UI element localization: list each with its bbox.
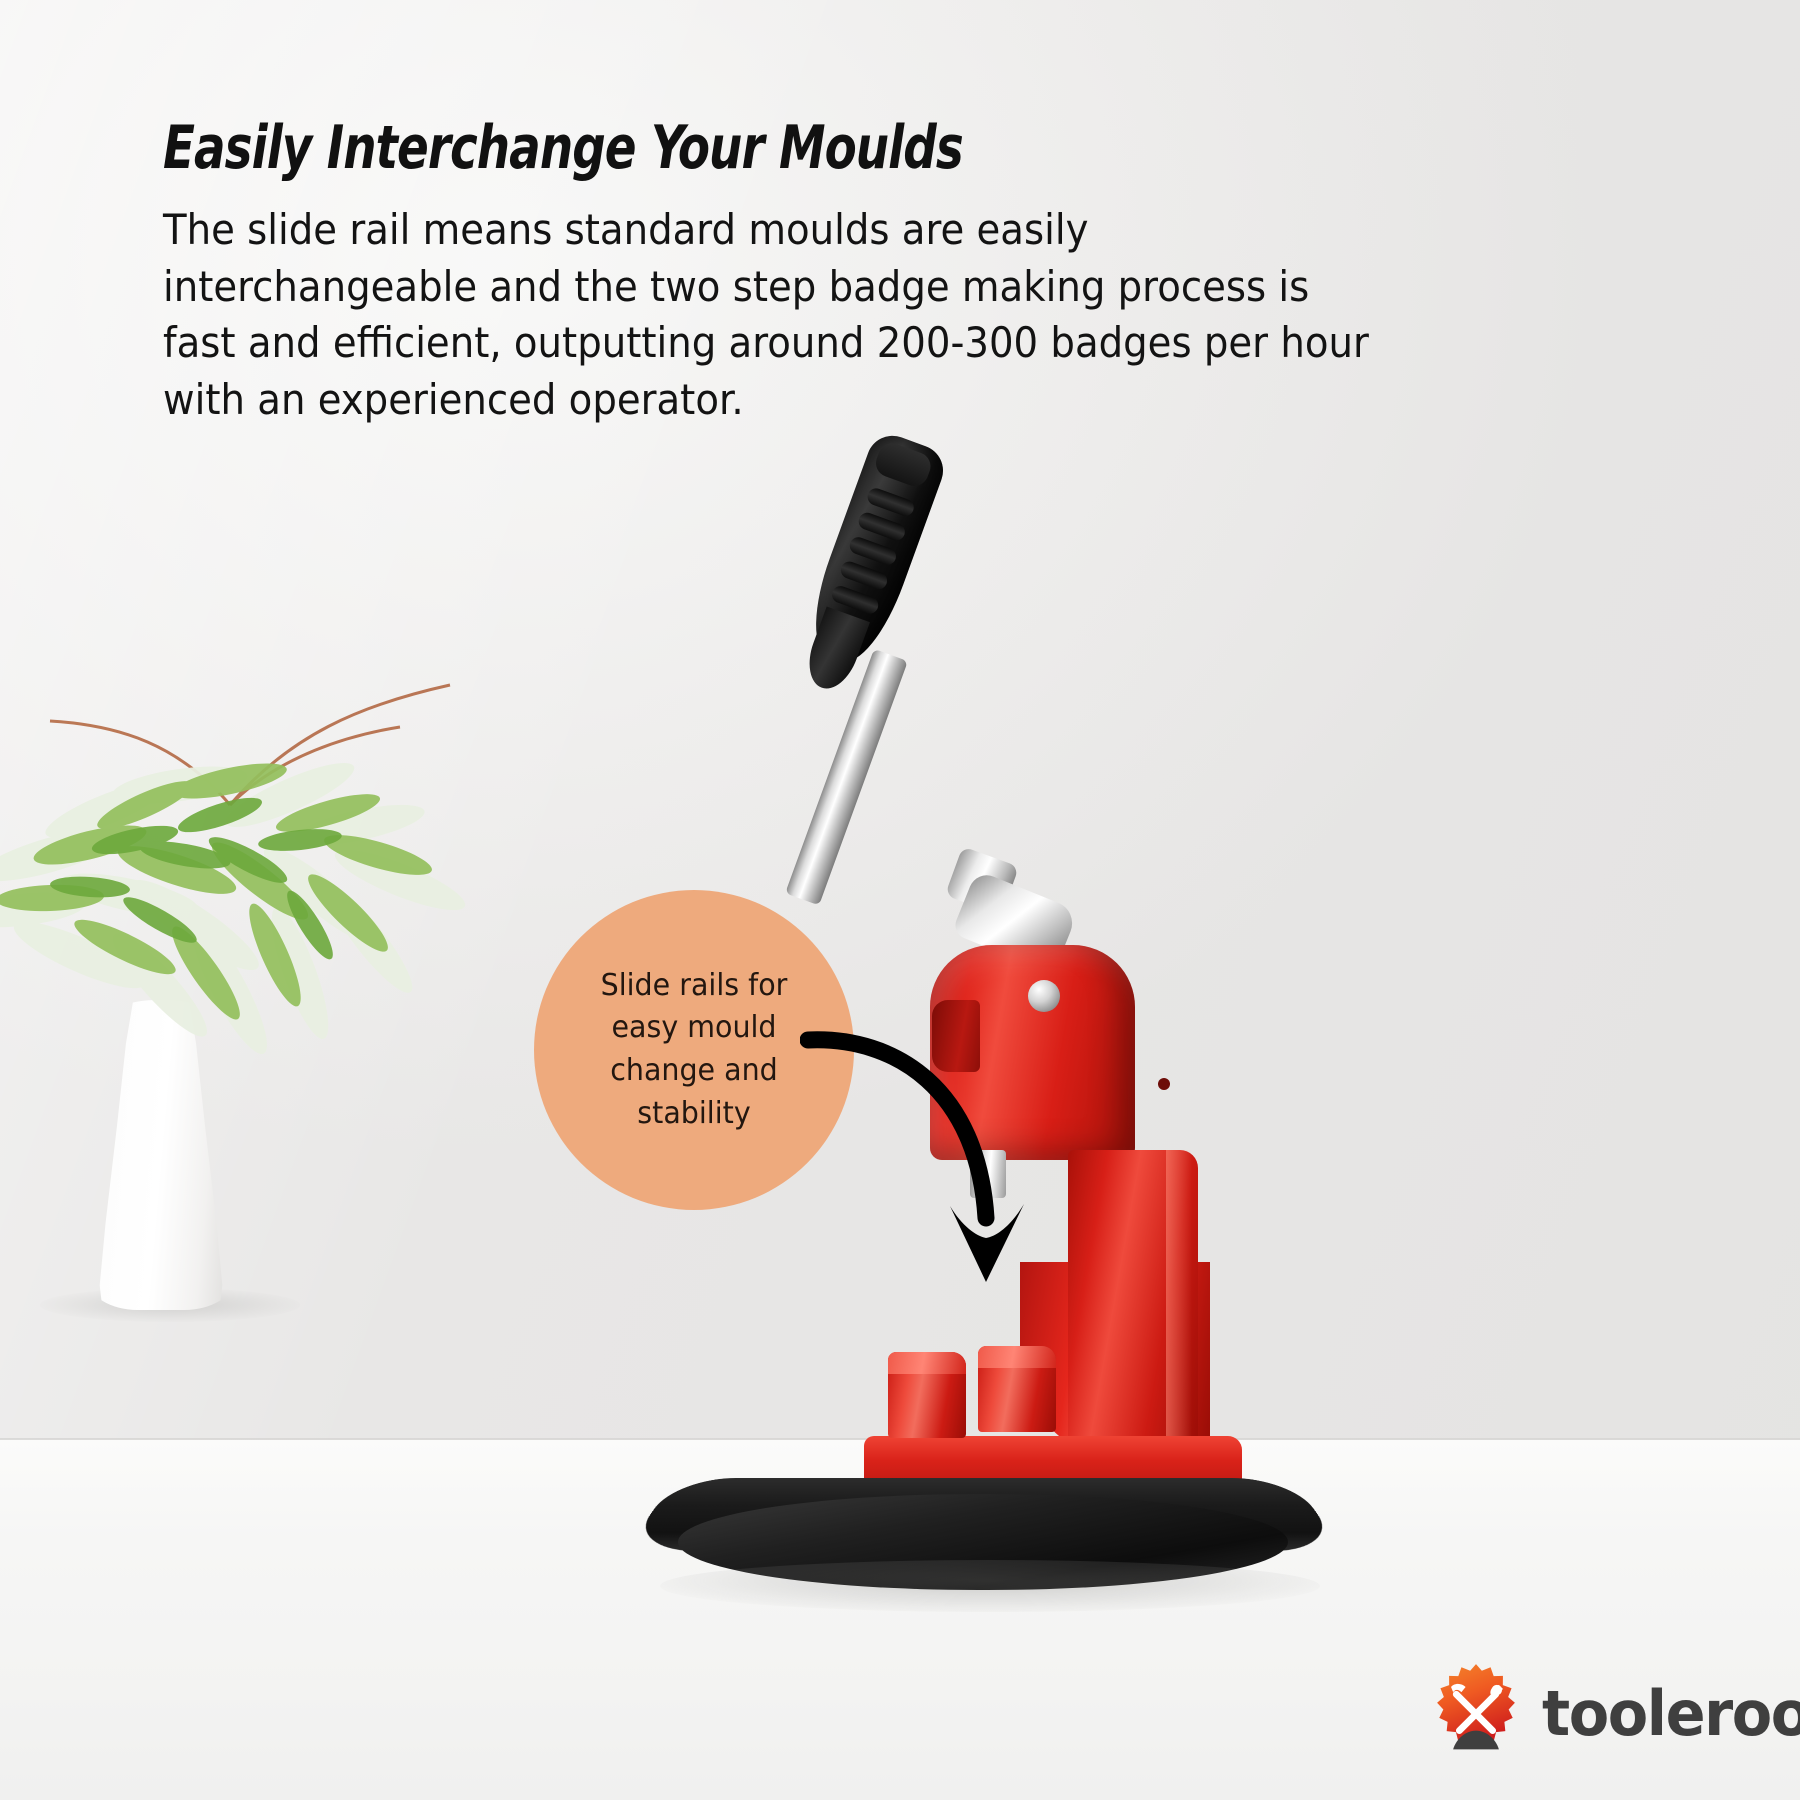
badge-press-machine [0, 0, 1800, 1800]
slide-rail-right [978, 1346, 1056, 1432]
press-column-highlight [1166, 1150, 1192, 1450]
slide-rail-top-face [978, 1346, 1056, 1368]
slide-rail-left [888, 1352, 966, 1438]
handle-top-plate [872, 439, 934, 489]
chrome-lever-rod [785, 649, 908, 906]
curved-down-arrow-icon [800, 1020, 1060, 1340]
brand-wordmark: tooleroo [1542, 1683, 1800, 1745]
mat-shadow [660, 1560, 1320, 1612]
promo-image-canvas: Easily Interchange Your Moulds The slide… [0, 0, 1800, 1800]
brand-logo[interactable]: tooleroo [1424, 1660, 1768, 1768]
press-pivot-bolt [1028, 980, 1060, 1012]
handle-neck [800, 606, 870, 695]
slide-rail-top-face [888, 1352, 966, 1374]
gear-hammer-wrench-icon [1424, 1662, 1528, 1766]
press-screw [1158, 1078, 1170, 1090]
